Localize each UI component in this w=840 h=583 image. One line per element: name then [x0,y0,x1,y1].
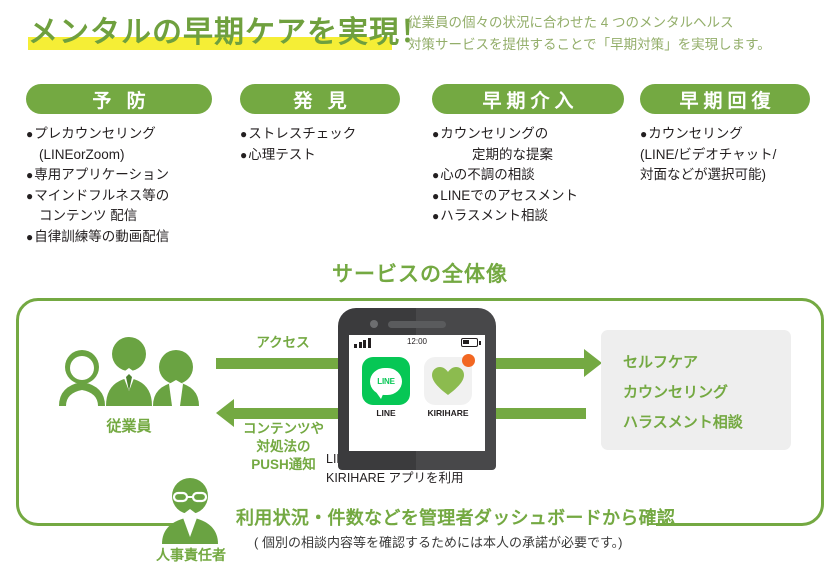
list-item-subline: 対面などが選択可能) [640,165,810,186]
category-list-prevention: ● プレカウンセリング (LINEorZoom) ● 専用アプリケーション ● … [26,124,212,247]
phone-screen: 12:00 LINE LINE [349,335,485,451]
list-item-label: ハラスメント相談 [440,206,624,227]
category-column-discovery: 発 見 ● ストレスチェック ● 心理テスト [240,84,400,165]
list-item-label: マインドフルネス等の [34,186,212,207]
hr-manager-icon [154,476,226,544]
list-item: ● マインドフルネス等の [26,186,212,207]
list-item: ● LINEでのアセスメント [432,186,624,207]
list-item: ● プレカウンセリング [26,124,212,145]
list-item-label: カウンセリング [648,124,810,145]
services-box: セルフケア カウンセリング ハラスメント相談 [601,330,791,450]
line-logo-text: LINE [377,377,394,386]
notification-badge-icon [462,354,475,367]
app-line[interactable]: LINE LINE [362,357,410,418]
list-item-subline: 定期的な提案 [432,145,624,166]
battery-icon [461,338,478,347]
phone-app-grid: LINE LINE KIRIHARE [349,351,485,418]
bullet-icon: ● [26,227,33,248]
category-column-early-intervention: 早期介入 ● カウンセリングの 定期的な提案 ● 心の不調の相談 ● LINEで… [432,84,624,227]
list-item: ● 自律訓練等の動画配信 [26,227,212,248]
list-item-label: カウンセリングの [440,124,624,145]
category-list-discovery: ● ストレスチェック ● 心理テスト [240,124,400,165]
list-item: ● ハラスメント相談 [432,206,624,227]
heart-icon [432,367,464,396]
kirihare-app-icon[interactable] [424,357,472,405]
page-title: メンタルの早期ケアを実現！ [28,14,431,52]
line-app-icon[interactable]: LINE [362,357,410,405]
category-list-early-recovery: ● カウンセリング (LINE/ビデオチャット/ 対面などが選択可能) [640,124,810,186]
list-item: ● 専用アプリケーション [26,165,212,186]
page-header: メンタルの早期ケアを実現！ 従業員の個々の状況に合わせた 4 つのメンタルヘルス… [0,0,840,78]
overview-section-title: サービスの全体像 [0,258,840,288]
bullet-icon: ● [640,124,647,145]
service-item-self-care: セルフケア [623,348,791,378]
header-description-line-1: 従業員の個々の状況に合わせた 4 つのメンタルヘルス [408,12,771,34]
header-description-line-2: 対策サービスを提供することで「早期対策」を実現します。 [408,34,771,56]
bullet-icon: ● [240,145,247,166]
service-overview-diagram: 従業員 アクセス コンテンツや 対処法の PUSH通知 12:00 [16,298,824,548]
list-item-subline: コンテンツ 配信 [26,206,212,227]
bullet-icon: ● [240,124,247,145]
list-item: ● 心理テスト [240,145,400,166]
bullet-icon: ● [432,206,439,227]
service-item-harassment: ハラスメント相談 [623,408,791,438]
dashboard-main-text: 利用状況・件数などを管理者ダッシュボードから確認 [236,504,675,530]
arrow-access-right-segment [486,358,586,369]
arrow-push-right-segment [486,408,586,419]
list-item-label: プレカウンセリング [34,124,212,145]
app-label-line: LINE [362,408,410,418]
list-item-label: LINEでのアセスメント [440,186,624,207]
list-item: ● ストレスチェック [240,124,400,145]
list-item-label: ストレスチェック [248,124,400,145]
list-item-subline: (LINEorZoom) [26,145,212,166]
category-heading-early-intervention: 早期介入 [432,84,624,114]
category-heading-early-recovery: 早期回復 [640,84,810,114]
employees-group: 従業員 [44,334,214,436]
phone-caption-line-2: KIRIHARE アプリを利用 [326,469,516,488]
category-heading-discovery: 発 見 [240,84,400,114]
phone-status-bar: 12:00 [349,335,485,351]
dashboard-sub-text: ( 個別の相談内容等を確認するためには本人の承諾が必要です。) [254,532,622,551]
service-categories: 予 防 ● プレカウンセリング (LINEorZoom) ● 専用アプリケーショ… [0,84,840,249]
list-item: ● カウンセリング [640,124,810,145]
category-heading-prevention: 予 防 [26,84,212,114]
list-item-label: 自律訓練等の動画配信 [34,227,212,248]
list-item: ● カウンセリングの [432,124,624,145]
list-item-subline: (LINE/ビデオチャット/ [640,145,810,166]
bullet-icon: ● [432,165,439,186]
phone-mockup: 12:00 LINE LINE [338,308,496,470]
list-item-label: 心の不調の相談 [440,165,624,186]
hr-manager-label: 人事責任者 [116,545,266,565]
phone-speaker-icon [388,321,446,328]
bullet-icon: ● [26,165,33,186]
employees-label: 従業員 [44,415,214,436]
bullet-icon: ● [432,186,439,207]
arrow-push-left-segment [234,408,346,419]
phone-camera-icon [370,320,378,328]
list-item-label: 専用アプリケーション [34,165,212,186]
bullet-icon: ● [432,124,439,145]
arrow-access-label: アクセス [224,334,342,352]
line-speech-bubble-icon: LINE [370,368,402,395]
service-item-counseling: カウンセリング [623,378,791,408]
app-label-kirihare: KIRIHARE [424,408,472,418]
main-title-wrapper: メンタルの早期ケアを実現！ [28,14,431,52]
category-list-early-intervention: ● カウンセリングの 定期的な提案 ● 心の不調の相談 ● LINEでのアセスメ… [432,124,624,227]
category-column-prevention: 予 防 ● プレカウンセリング (LINEorZoom) ● 専用アプリケーショ… [26,84,212,247]
arrow-access-head-icon [584,349,602,377]
arrow-push-label-line-1: コンテンツや [221,420,346,438]
arrow-access-left-segment [216,358,346,369]
list-item: ● 心の不調の相談 [432,165,624,186]
employees-icon [44,334,214,406]
hr-manager-group [154,476,226,549]
app-kirihare[interactable]: KIRIHARE [424,357,472,418]
bullet-icon: ● [26,186,33,207]
header-description: 従業員の個々の状況に合わせた 4 つのメンタルヘルス 対策サービスを提供すること… [408,12,771,56]
bullet-icon: ● [26,124,33,145]
list-item-label: 心理テスト [248,145,400,166]
category-column-early-recovery: 早期回復 ● カウンセリング (LINE/ビデオチャット/ 対面などが選択可能) [640,84,810,186]
